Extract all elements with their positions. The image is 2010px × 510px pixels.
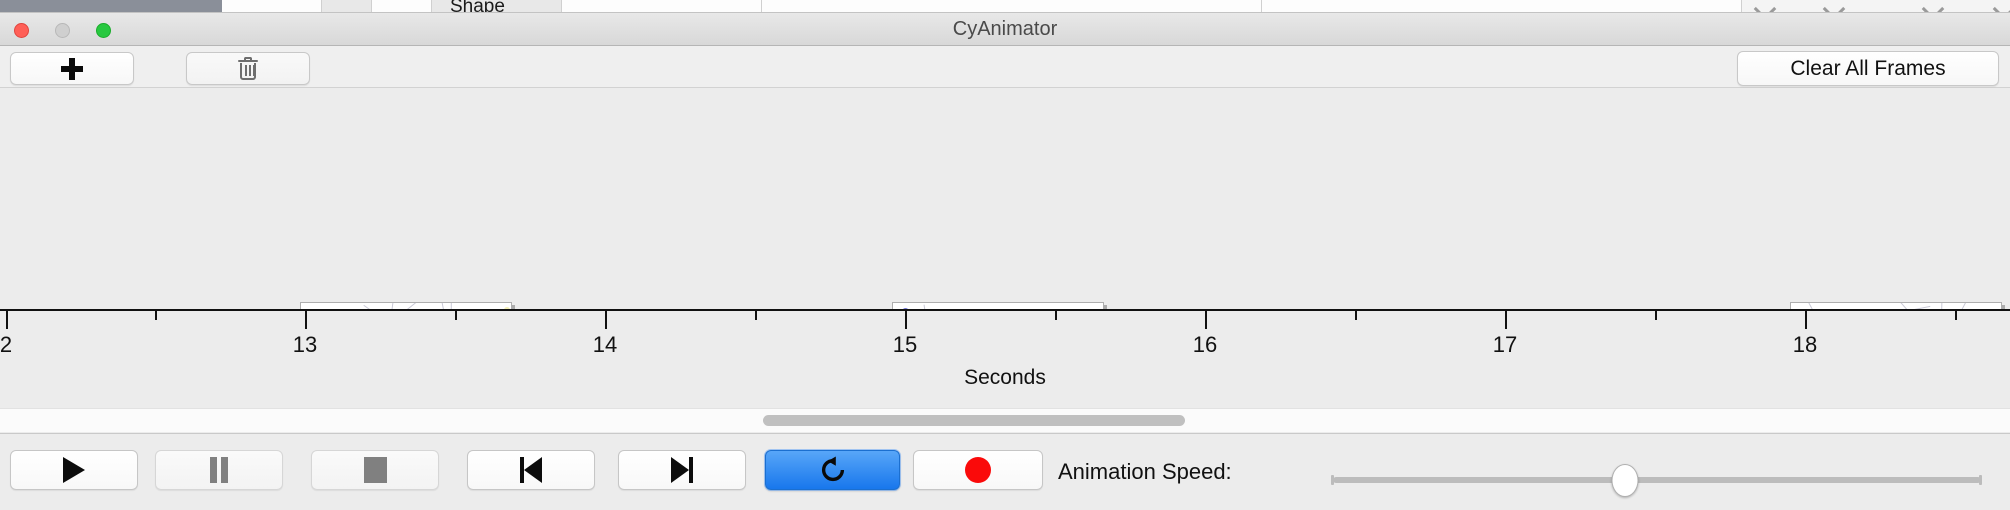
stop-icon (364, 457, 387, 483)
axis-tick-label: 14 (593, 332, 617, 358)
record-button[interactable] (913, 450, 1043, 490)
animation-speed-slider[interactable] (1333, 477, 1981, 483)
axis-tick-major (1805, 311, 1807, 329)
record-icon (965, 457, 991, 483)
background-cell (562, 0, 762, 13)
skip-to-start-button[interactable] (467, 450, 595, 490)
pause-icon (209, 457, 229, 483)
background-cell (762, 0, 1262, 13)
stop-button[interactable] (311, 450, 439, 490)
loop-icon (818, 455, 848, 485)
axis-tick-minor (455, 311, 457, 320)
skip-to-end-button[interactable] (618, 450, 746, 490)
background-cell (222, 0, 322, 13)
titlebar: CyAnimator (0, 13, 2010, 46)
axis-tick-minor (155, 311, 157, 320)
timeline-axis-line (0, 309, 2010, 311)
axis-tick-label: 16 (1193, 332, 1217, 358)
slider-min-cap (1331, 475, 1334, 485)
pause-button[interactable] (155, 450, 283, 490)
background-window-strip: Shape (0, 0, 2010, 13)
axis-tick-major (905, 311, 907, 329)
skip-back-icon (520, 457, 542, 483)
plus-icon (61, 58, 83, 80)
axis-tick-major (6, 311, 8, 329)
axis-tick-minor (1655, 311, 1657, 320)
background-window-label: Shape (450, 0, 505, 13)
chevron-down-icon (1922, 0, 1945, 13)
trash-icon (238, 57, 258, 81)
chevron-down-icon (1823, 0, 1846, 13)
slider-max-cap (1979, 475, 1982, 485)
axis-tick-label: 2 (0, 332, 12, 358)
delete-frame-button[interactable] (186, 52, 310, 85)
loop-button[interactable] (765, 450, 900, 490)
background-dark-tab (0, 0, 222, 13)
toolbar: Clear All Frames (0, 46, 2010, 88)
play-icon (63, 457, 85, 483)
clear-all-frames-button[interactable]: Clear All Frames (1737, 51, 1999, 86)
animation-speed-thumb[interactable] (1611, 464, 1638, 497)
axis-tick-minor (1355, 311, 1357, 320)
axis-tick-major (305, 311, 307, 329)
add-frame-button[interactable] (10, 52, 134, 85)
background-cell (372, 0, 432, 13)
axis-title: Seconds (0, 366, 2010, 390)
background-cell (1262, 0, 1742, 13)
play-button[interactable] (10, 450, 138, 490)
cyanimator-window: Shape CyAnimator Clear All Frames MCM1MC… (0, 0, 2010, 510)
window-title: CyAnimator (0, 13, 2010, 46)
chevron-down-icon (1754, 0, 1777, 13)
animation-speed-label: Animation Speed: (1058, 459, 1232, 485)
timeline-canvas[interactable]: MCM1MCM1MCM1 (0, 89, 2010, 311)
axis-tick-minor (1955, 311, 1957, 320)
axis-tick-label: 17 (1493, 332, 1517, 358)
skip-forward-icon (671, 457, 693, 483)
background-cell (322, 0, 372, 13)
axis-tick-minor (1055, 311, 1057, 320)
axis-tick-label: 15 (893, 332, 917, 358)
axis-tick-major (1205, 311, 1207, 329)
axis-tick-label: 18 (1793, 332, 1817, 358)
playback-control-bar: Animation Speed: (0, 433, 2010, 510)
axis-tick-major (605, 311, 607, 329)
horizontal-scrollbar-track[interactable] (0, 408, 2010, 432)
axis-tick-minor (755, 311, 757, 320)
axis-tick-major (1505, 311, 1507, 329)
axis-tick-label: 13 (293, 332, 317, 358)
horizontal-scrollbar-thumb[interactable] (763, 415, 1185, 426)
chevron-down-icon (1993, 0, 2010, 13)
